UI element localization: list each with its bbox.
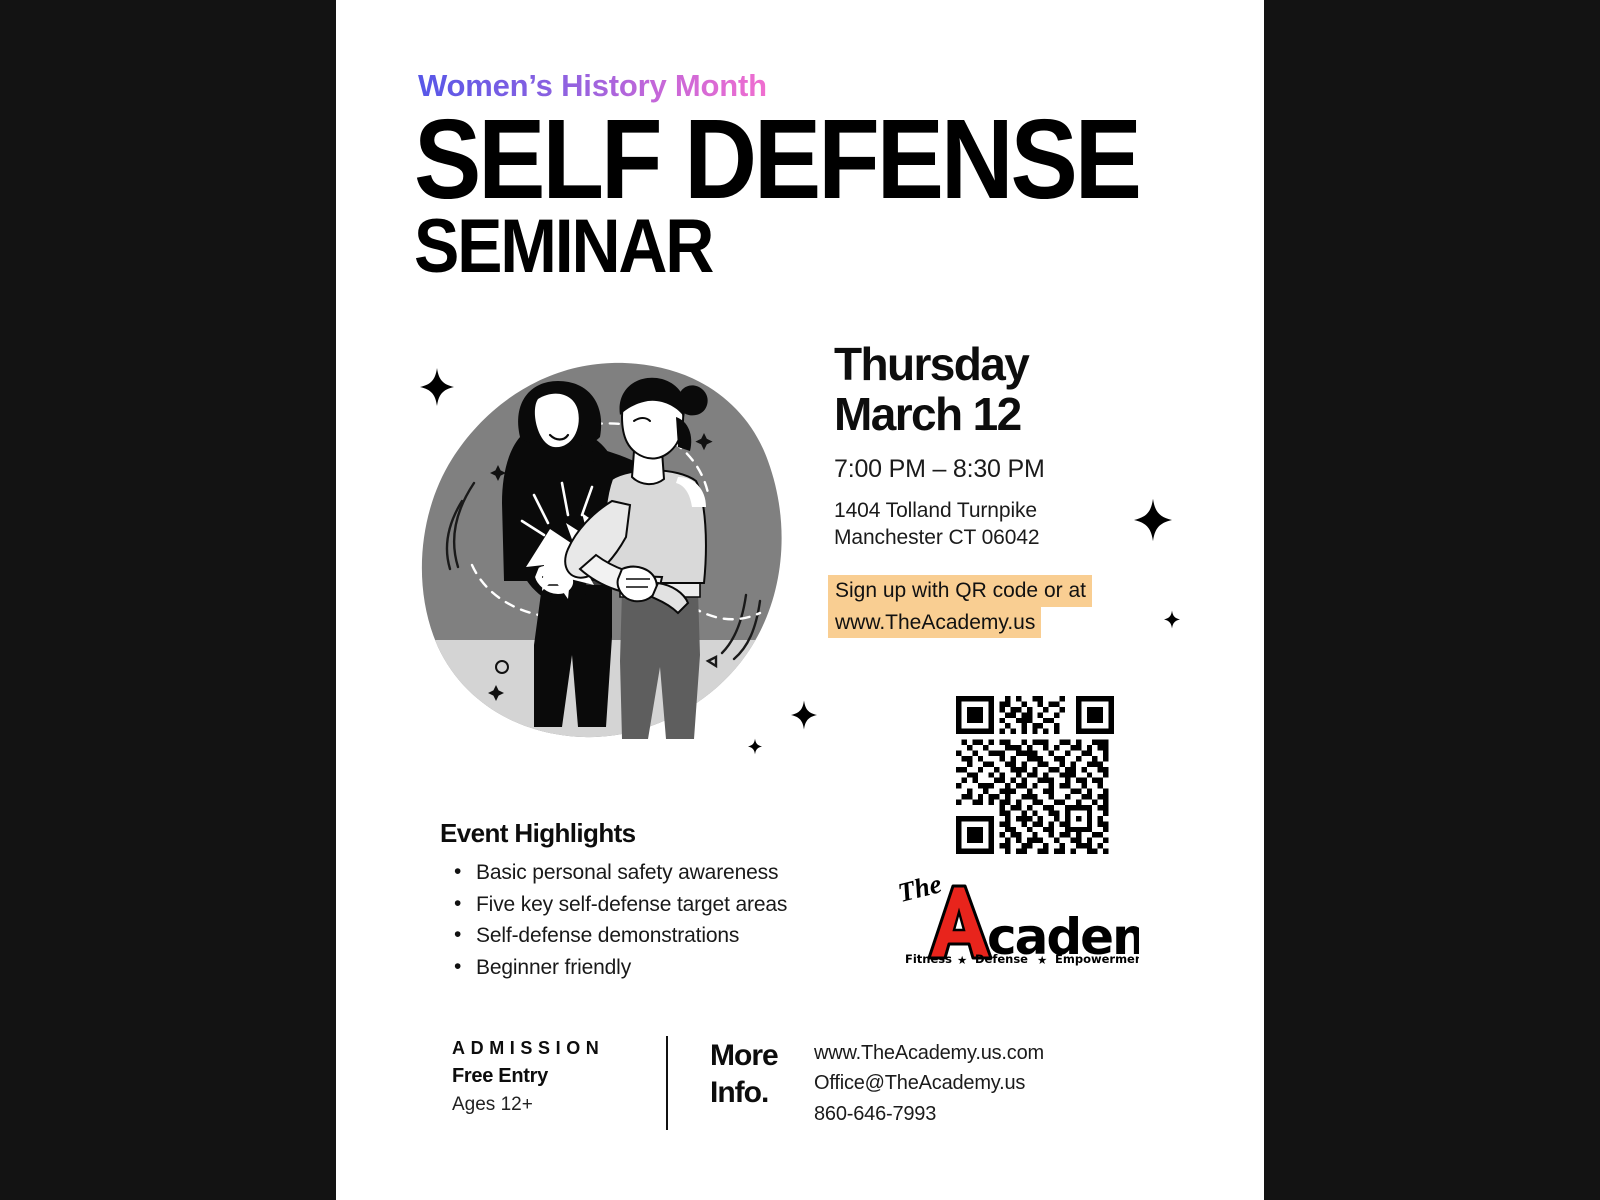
admission-value: Free Entry xyxy=(452,1065,672,1088)
contact-list: www.TheAcademy.us.com Office@TheAcademy.… xyxy=(814,1038,1044,1129)
contact-website[interactable]: www.TheAcademy.us.com xyxy=(814,1038,1044,1068)
svg-text:The: The xyxy=(895,868,944,908)
address-line-1: 1404 Tolland Turnpike xyxy=(834,498,1164,524)
list-item: Basic personal safety awareness xyxy=(476,857,860,889)
event-time: 7:00 PM – 8:30 PM xyxy=(834,455,1164,484)
sparkle-small-icon xyxy=(1164,610,1180,629)
page-title: SELF DEFENSE xyxy=(414,104,1139,217)
event-day: Thursday xyxy=(834,340,1164,390)
screenshot-stage: Women’s History Month SELF DEFENSE SEMIN… xyxy=(0,0,1600,1200)
signup-qr-code[interactable] xyxy=(956,696,1114,854)
svg-text:★: ★ xyxy=(1037,953,1047,966)
event-date: March 12 xyxy=(834,390,1164,440)
poster-sheet: Women’s History Month SELF DEFENSE SEMIN… xyxy=(336,0,1264,1200)
highlights-title: Event Highlights xyxy=(440,818,860,849)
poster-footer: ADMISSION Free Entry Ages 12+ More Info.… xyxy=(336,1030,1264,1150)
event-details: Thursday March 12 7:00 PM – 8:30 PM 1404… xyxy=(834,340,1164,551)
svg-text:★: ★ xyxy=(957,953,967,966)
more-info-line-2: Info. xyxy=(710,1075,778,1112)
list-item: Beginner friendly xyxy=(476,952,860,984)
contact-phone[interactable]: 860-646-7993 xyxy=(814,1099,1044,1129)
address-line-2: Manchester CT 06042 xyxy=(834,525,1164,551)
page-subtitle: SEMINAR xyxy=(414,208,712,284)
admission-kicker: ADMISSION xyxy=(452,1038,672,1059)
highlights-list: Basic personal safety awareness Five key… xyxy=(440,857,860,983)
svg-text:Fitness: Fitness xyxy=(905,952,952,966)
list-item: Five key self-defense target areas xyxy=(476,889,860,921)
self-defense-illustration xyxy=(416,355,796,755)
contact-email[interactable]: Office@TheAcademy.us xyxy=(814,1068,1044,1098)
more-info-line-1: More xyxy=(710,1038,778,1075)
admission-age-note: Ages 12+ xyxy=(452,1094,672,1116)
signup-callout[interactable]: Sign up with QR code or at www.TheAcadem… xyxy=(828,575,1092,638)
signup-line-2[interactable]: www.TheAcademy.us xyxy=(828,607,1041,639)
event-highlights: Event Highlights Basic personal safety a… xyxy=(440,818,860,983)
more-info-label: More Info. xyxy=(710,1038,778,1111)
list-item: Self-defense demonstrations xyxy=(476,920,860,952)
footer-divider xyxy=(666,1036,668,1130)
admission-block: ADMISSION Free Entry Ages 12+ xyxy=(452,1038,672,1116)
signup-line-1: Sign up with QR code or at xyxy=(828,575,1092,607)
academy-logo: The cademy Fitness ★ Defense ★ Empowerme… xyxy=(891,862,1139,966)
event-address: 1404 Tolland Turnpike Manchester CT 0604… xyxy=(834,498,1164,551)
svg-text:Defense: Defense xyxy=(975,952,1028,966)
svg-text:Empowerment: Empowerment xyxy=(1055,952,1139,966)
